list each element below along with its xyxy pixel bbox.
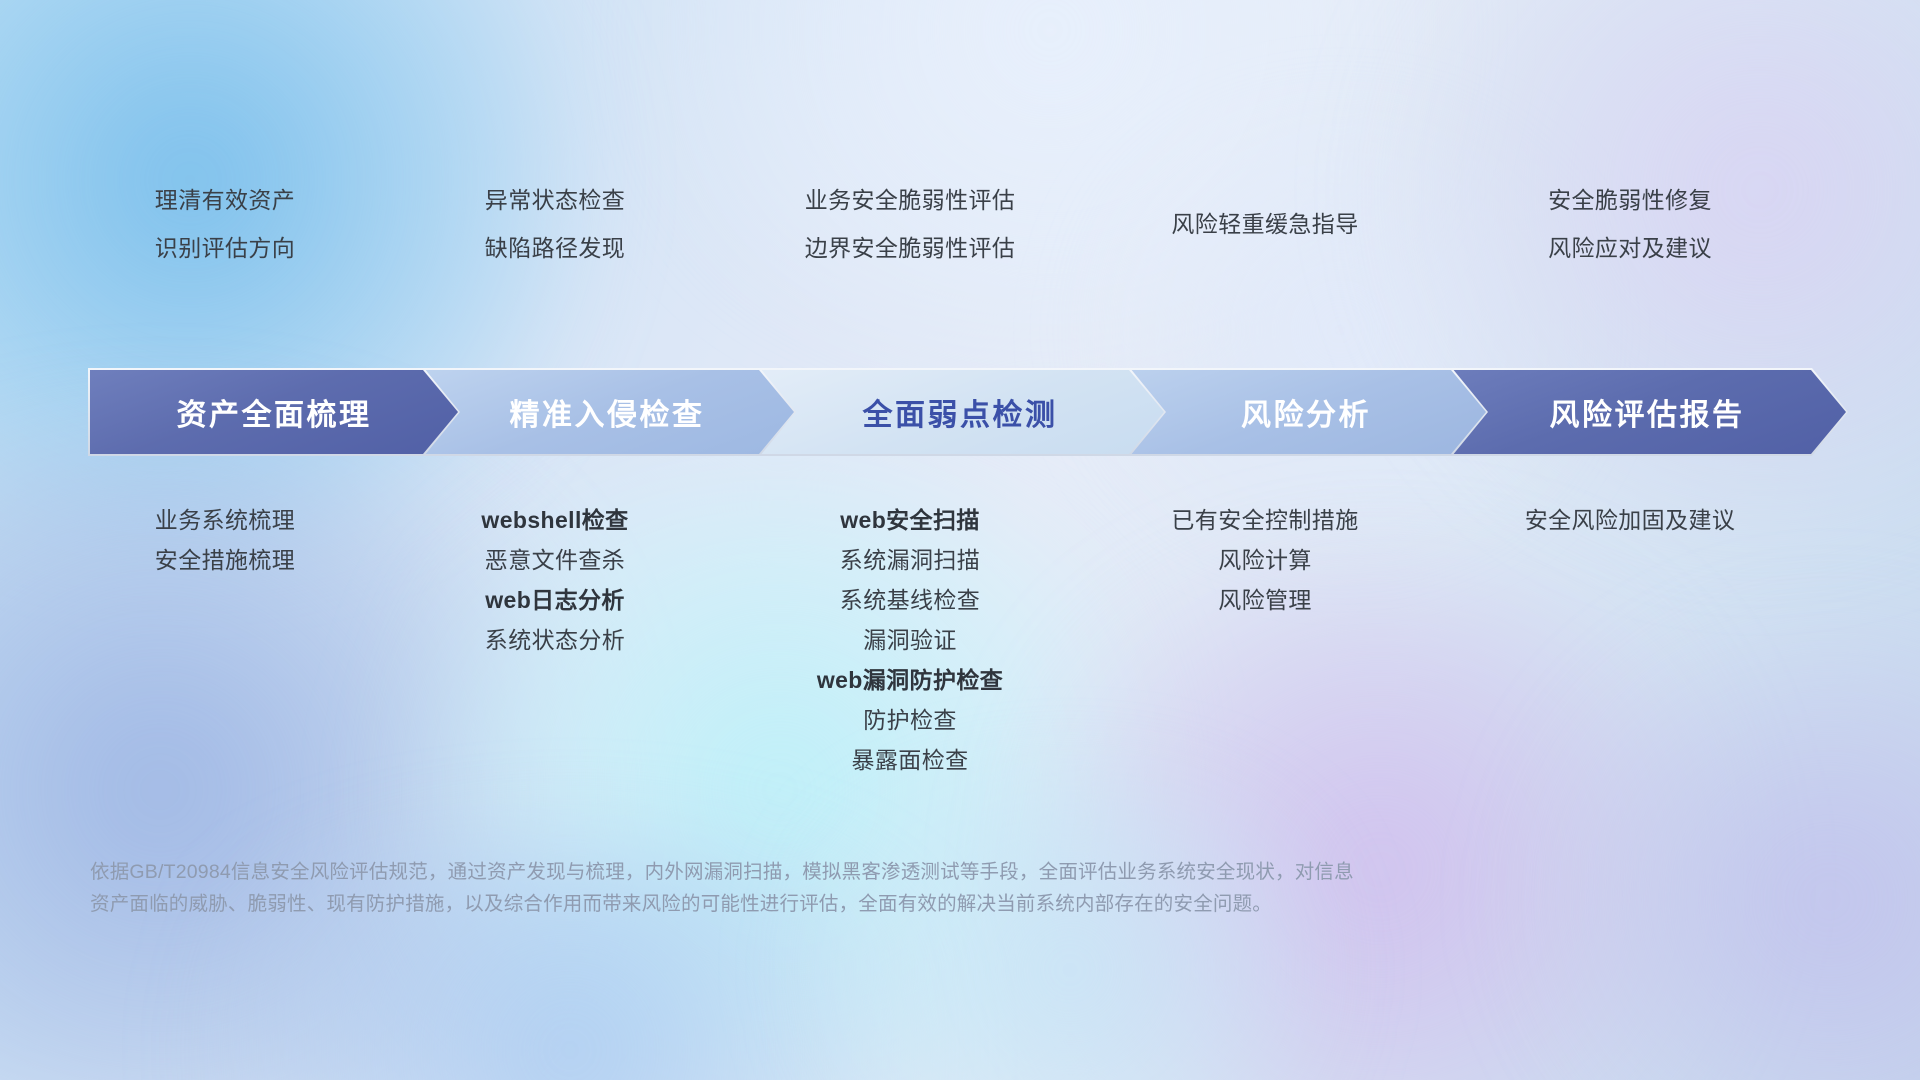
chevron-face: 风险分析 (1126, 370, 1486, 454)
chevron-label: 全面弱点检测 (863, 390, 1058, 434)
footer-description: 依据GB/T20984信息安全风险评估规范，通过资产发现与梳理，内外网漏洞扫描，… (90, 856, 1520, 920)
chevron-face: 精准入侵检查 (420, 370, 794, 454)
stage-below-asset-review: 业务系统梳理 安全措施梳理 (60, 500, 390, 780)
list-item: 漏洞验证 (720, 620, 1100, 660)
list-item: web安全扫描 (720, 500, 1100, 540)
caption-line: 缺陷路径发现 (390, 224, 720, 272)
list-item: web漏洞防护检查 (720, 660, 1100, 700)
chevron-intrusion-check[interactable]: 精准入侵检查 (418, 368, 796, 456)
list-item: 风险计算 (1100, 540, 1430, 580)
footer-line-2: 资产面临的威胁、脆弱性、现有防护措施，以及综合作用而带来风险的可能性进行评估，全… (90, 888, 1520, 920)
caption-line: 边界安全脆弱性评估 (720, 224, 1100, 272)
list-item: 恶意文件查杀 (390, 540, 720, 580)
list-item: 已有安全控制措施 (1100, 500, 1430, 540)
chevron-risk-analysis[interactable]: 风险分析 (1124, 368, 1488, 456)
list-item: 暴露面检查 (720, 740, 1100, 780)
list-item: 业务系统梳理 (60, 500, 390, 540)
stage-above-asset-review: 理清有效资产 识别评估方向 (60, 176, 390, 286)
chevron-face: 全面弱点检测 (756, 370, 1164, 454)
list-item: web日志分析 (390, 580, 720, 620)
footer-line-1: 依据GB/T20984信息安全风险评估规范，通过资产发现与梳理，内外网漏洞扫描，… (90, 856, 1520, 888)
list-item: 防护检查 (720, 700, 1100, 740)
chevron-label: 风险分析 (1241, 390, 1371, 434)
list-item: 系统基线检查 (720, 580, 1100, 620)
list-item: 安全风险加固及建议 (1430, 500, 1830, 540)
stage-above-risk-report: 安全脆弱性修复 风险应对及建议 (1430, 176, 1830, 286)
list-item: 系统状态分析 (390, 620, 720, 660)
chevron-asset-review[interactable]: 资产全面梳理 (88, 368, 460, 456)
caption-line: 异常状态检查 (390, 176, 720, 224)
chevron-risk-report[interactable]: 风险评估报告 (1446, 368, 1848, 456)
stage-below-weakness-detection: web安全扫描 系统漏洞扫描 系统基线检查 漏洞验证 web漏洞防护检查 防护检… (720, 500, 1100, 780)
stage-chevron-band: 资产全面梳理 精准入侵检查 全面弱点检测 风险分析 风险评估报告 (88, 368, 1848, 456)
caption-line: 风险轻重缓急指导 (1100, 200, 1430, 248)
process-diagram: 理清有效资产 识别评估方向 异常状态检查 缺陷路径发现 业务安全脆弱性评估 边界… (0, 0, 1920, 1080)
list-item: webshell检查 (390, 500, 720, 540)
chevron-weakness-detection[interactable]: 全面弱点检测 (754, 368, 1166, 456)
stage-below-intrusion-check: webshell检查 恶意文件查杀 web日志分析 系统状态分析 (390, 500, 720, 780)
stage-above-risk-analysis: 风险轻重缓急指导 (1100, 176, 1430, 286)
stage-above-intrusion-check: 异常状态检查 缺陷路径发现 (390, 176, 720, 286)
list-item: 风险管理 (1100, 580, 1430, 620)
chevron-label: 风险评估报告 (1550, 390, 1745, 434)
chevron-face: 资产全面梳理 (90, 370, 458, 454)
stage-below-lists-row: 业务系统梳理 安全措施梳理 webshell检查 恶意文件查杀 web日志分析 … (0, 500, 1920, 780)
list-item: 系统漏洞扫描 (720, 540, 1100, 580)
caption-line: 识别评估方向 (60, 224, 390, 272)
stage-above-captions-row: 理清有效资产 识别评估方向 异常状态检查 缺陷路径发现 业务安全脆弱性评估 边界… (0, 176, 1920, 286)
chevron-label: 资产全面梳理 (177, 390, 372, 434)
stage-above-weakness-detection: 业务安全脆弱性评估 边界安全脆弱性评估 (720, 176, 1100, 286)
list-item: 安全措施梳理 (60, 540, 390, 580)
caption-line: 安全脆弱性修复 (1430, 176, 1830, 224)
caption-line: 业务安全脆弱性评估 (720, 176, 1100, 224)
stage-below-risk-report: 安全风险加固及建议 (1430, 500, 1830, 780)
stage-below-risk-analysis: 已有安全控制措施 风险计算 风险管理 (1100, 500, 1430, 780)
caption-line: 风险应对及建议 (1430, 224, 1830, 272)
chevron-label: 精准入侵检查 (510, 390, 705, 434)
caption-line: 理清有效资产 (60, 176, 390, 224)
chevron-face: 风险评估报告 (1448, 370, 1846, 454)
